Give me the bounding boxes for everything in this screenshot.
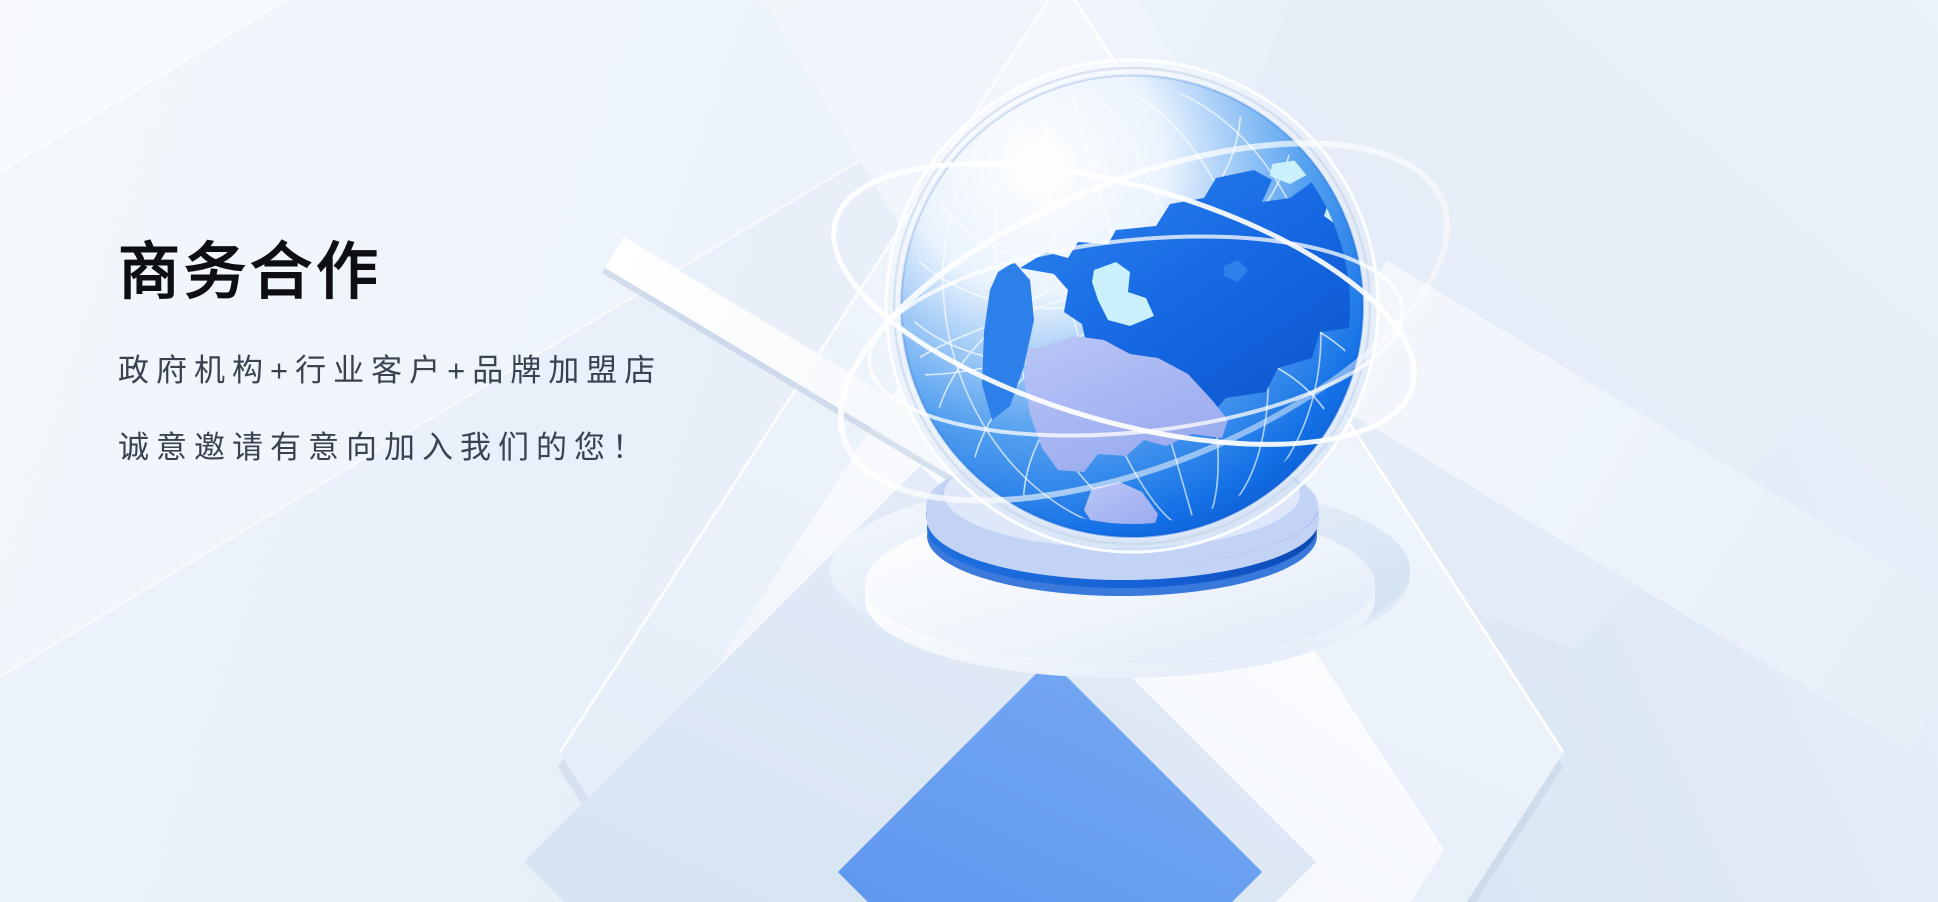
globe-illustration (792, 36, 1472, 736)
subtitle-line-2: 诚意邀请有意向加入我们的您！ (118, 432, 662, 463)
subtitle-line-1: 政府机构+行业客户+品牌加盟店 (118, 355, 662, 386)
page-title: 商务合作 (118, 236, 662, 309)
headline-copy: 商务合作 政府机构+行业客户+品牌加盟店 诚意邀请有意向加入我们的您！ (118, 236, 662, 463)
globe-icon (792, 36, 1472, 736)
business-cooperation-banner: 商务合作 政府机构+行业客户+品牌加盟店 诚意邀请有意向加入我们的您！ (0, 0, 1938, 902)
